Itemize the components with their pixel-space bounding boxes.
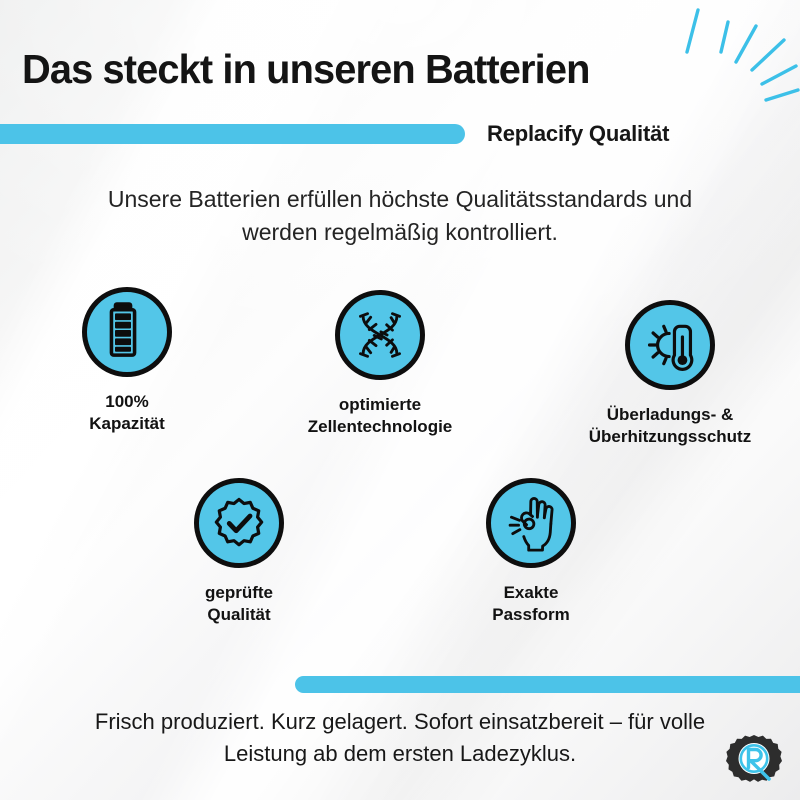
dna-helix-icon	[340, 295, 420, 375]
ok-hand-icon	[491, 483, 571, 563]
feature-label: optimierte Zellentechnologie	[308, 394, 453, 438]
feature-label: 100% Kapazität	[89, 391, 165, 435]
feature-cell-technology: optimierte Zellentechnologie	[335, 290, 525, 438]
feature-exact-fit: Exakte Passform	[486, 478, 608, 626]
battery-full-icon	[87, 292, 167, 372]
feature-icon-circle	[335, 290, 425, 380]
replacify-gear-r-logo	[724, 733, 784, 793]
feature-capacity: 100% Kapazität	[82, 287, 203, 435]
feature-verified-quality: geprüfte Qualität	[194, 478, 307, 626]
feature-icon-circle	[194, 478, 284, 568]
verified-badge-check-icon	[199, 483, 279, 563]
brand-label: Replacify Qualität	[487, 121, 669, 147]
feature-overcharge-overheat-protection: Überladungs- & Überhitzungsschutz	[625, 300, 800, 448]
sun-thermometer-icon	[630, 305, 710, 385]
feature-icon-circle	[625, 300, 715, 390]
feature-label: geprüfte Qualität	[205, 582, 273, 626]
footer-text: Frisch produziert. Kurz gelagert. Sofort…	[0, 706, 800, 770]
feature-label: Exakte Passform	[492, 582, 569, 626]
intro-text: Unsere Batterien erfüllen höchste Qualit…	[0, 183, 800, 248]
page-title: Das steckt in unseren Batterien	[22, 46, 589, 93]
accent-bar-top	[0, 124, 465, 144]
accent-bar-bottom	[295, 676, 800, 693]
feature-label: Überladungs- & Überhitzungsschutz	[589, 404, 751, 448]
feature-icon-circle	[82, 287, 172, 377]
feature-icon-circle	[486, 478, 576, 568]
infographic-page: Das steckt in unseren Batterien Replacif…	[0, 0, 800, 800]
spark-lines-decoration	[648, 4, 800, 116]
